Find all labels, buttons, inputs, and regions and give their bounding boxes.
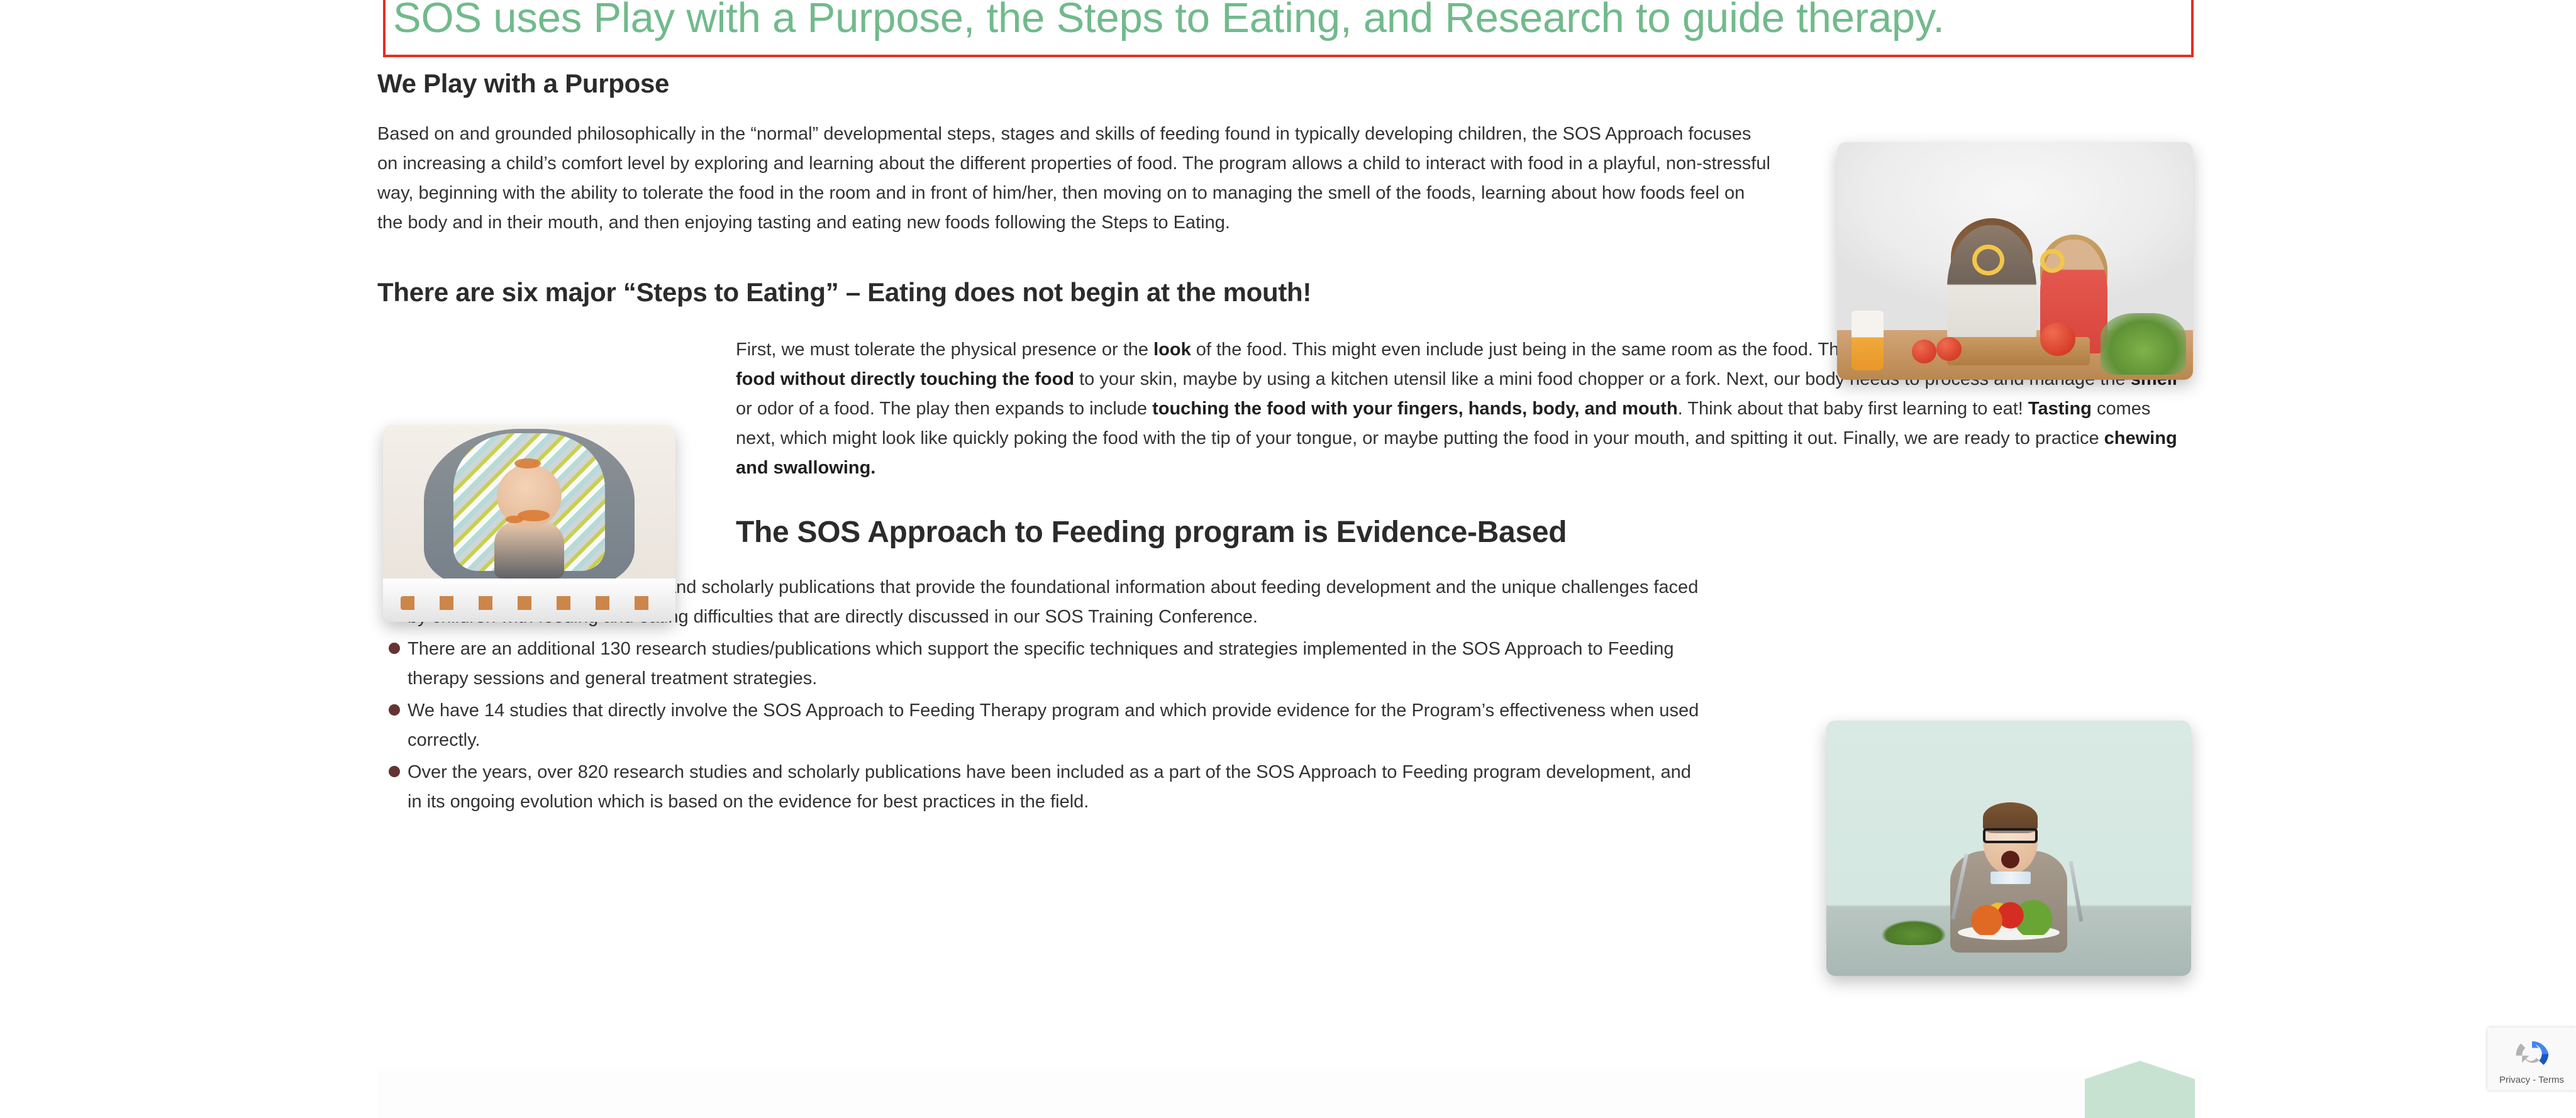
emphasis-span: look xyxy=(1153,340,1191,360)
page-title: SOS uses Play with a Purpose, the Steps … xyxy=(393,0,1945,39)
kitchen-tomato-2 xyxy=(1936,337,1962,361)
kitchen-tomato-1 xyxy=(1912,340,1937,363)
emphasis-span: Tasting xyxy=(2028,399,2092,419)
boy-bow-tie xyxy=(1990,872,2031,884)
recaptcha-logo xyxy=(2514,1037,2550,1072)
kitchen-pepper-ring-right xyxy=(2040,249,2065,273)
boy-glasses-icon xyxy=(1983,828,2038,843)
bullet-dot-icon xyxy=(389,704,400,716)
paragraph-play-with-a-purpose: Based on and grounded philosophically in… xyxy=(377,119,1770,238)
bullet-dot-icon xyxy=(389,766,400,777)
image-kitchen-mother-daughter xyxy=(1837,142,2193,380)
text-span: First, we must tolerate the physical pre… xyxy=(736,340,1153,360)
kitchen-pepper-ring-left xyxy=(1972,245,2004,275)
list-item-label: Over the years, over 820 research studie… xyxy=(408,762,1691,812)
heading-play-with-a-purpose: We Play with a Purpose xyxy=(377,68,2201,99)
kitchen-red-pepper xyxy=(2040,323,2076,356)
kitchen-juice-jug xyxy=(1851,311,1884,370)
list-item: Over the years, over 820 research studie… xyxy=(389,758,1709,817)
emphasis-span: touching the food with your fingers, han… xyxy=(1152,399,1678,419)
list-item: There are an additional 130 research stu… xyxy=(389,634,1709,694)
list-item: We have 14 studies that directly involve… xyxy=(389,696,1709,755)
boy-vegetables xyxy=(1965,899,2052,935)
heading-evidence-based: The SOS Approach to Feeding program is E… xyxy=(736,514,2201,551)
text-span: or odor of a food. The play then expands… xyxy=(736,399,1152,419)
baby-body xyxy=(494,519,565,578)
bullet-dot-icon xyxy=(389,643,400,654)
page-title-banner: SOS uses Play with a Purpose, the Steps … xyxy=(383,0,2194,57)
list-item-label: There are an additional 130 research stu… xyxy=(408,639,1674,689)
baby-food-smear-forehead xyxy=(514,458,541,468)
recaptcha-links[interactable]: Privacy - Terms xyxy=(2499,1075,2564,1085)
list-item-label: We have 14 studies that directly involve… xyxy=(408,700,1699,750)
image-boy-with-vegetables xyxy=(1826,721,2191,976)
text-span: . Think about that baby first learning t… xyxy=(1678,399,2028,419)
image-baby-high-chair xyxy=(383,425,675,622)
recaptcha-badge[interactable]: Privacy - Terms xyxy=(2487,1027,2576,1090)
page-root: SOS uses Play with a Purpose, the Steps … xyxy=(0,0,2576,1118)
boy-parsley xyxy=(1881,920,1946,946)
kitchen-salad-bowl xyxy=(2101,313,2186,375)
lower-section-strip xyxy=(377,1069,2201,1118)
baby-tray-food xyxy=(401,596,652,610)
